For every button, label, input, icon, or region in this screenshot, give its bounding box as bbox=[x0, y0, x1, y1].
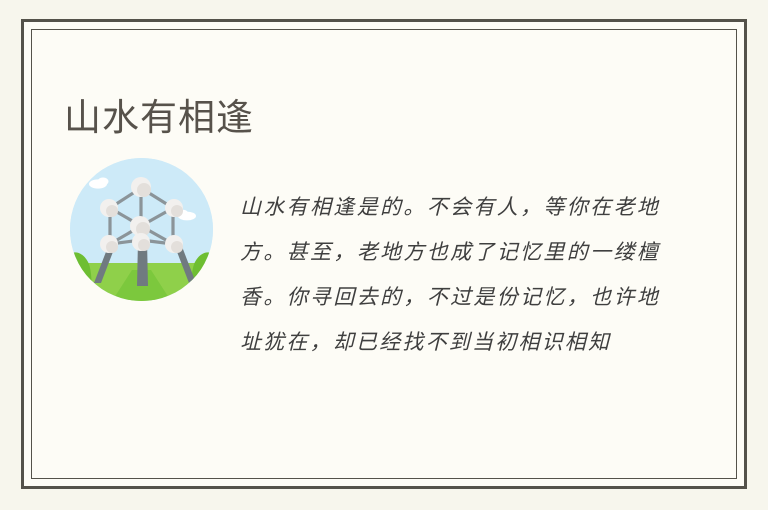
outer-border-frame: 山水有相逢 bbox=[21, 19, 747, 489]
content-area: 山水有相逢 bbox=[32, 30, 736, 478]
atomium-illustration-svg bbox=[70, 158, 213, 301]
page-canvas: 山水有相逢 bbox=[0, 0, 768, 510]
atomium-landmark-illustration bbox=[70, 158, 213, 301]
inner-border-frame: 山水有相逢 bbox=[31, 29, 737, 479]
page-title: 山水有相逢 bbox=[64, 97, 254, 140]
article-body-text: 山水有相逢是的。不会有人，等你在老地方。甚至，老地方也成了记忆里的一缕檀香。你寻… bbox=[240, 185, 660, 365]
